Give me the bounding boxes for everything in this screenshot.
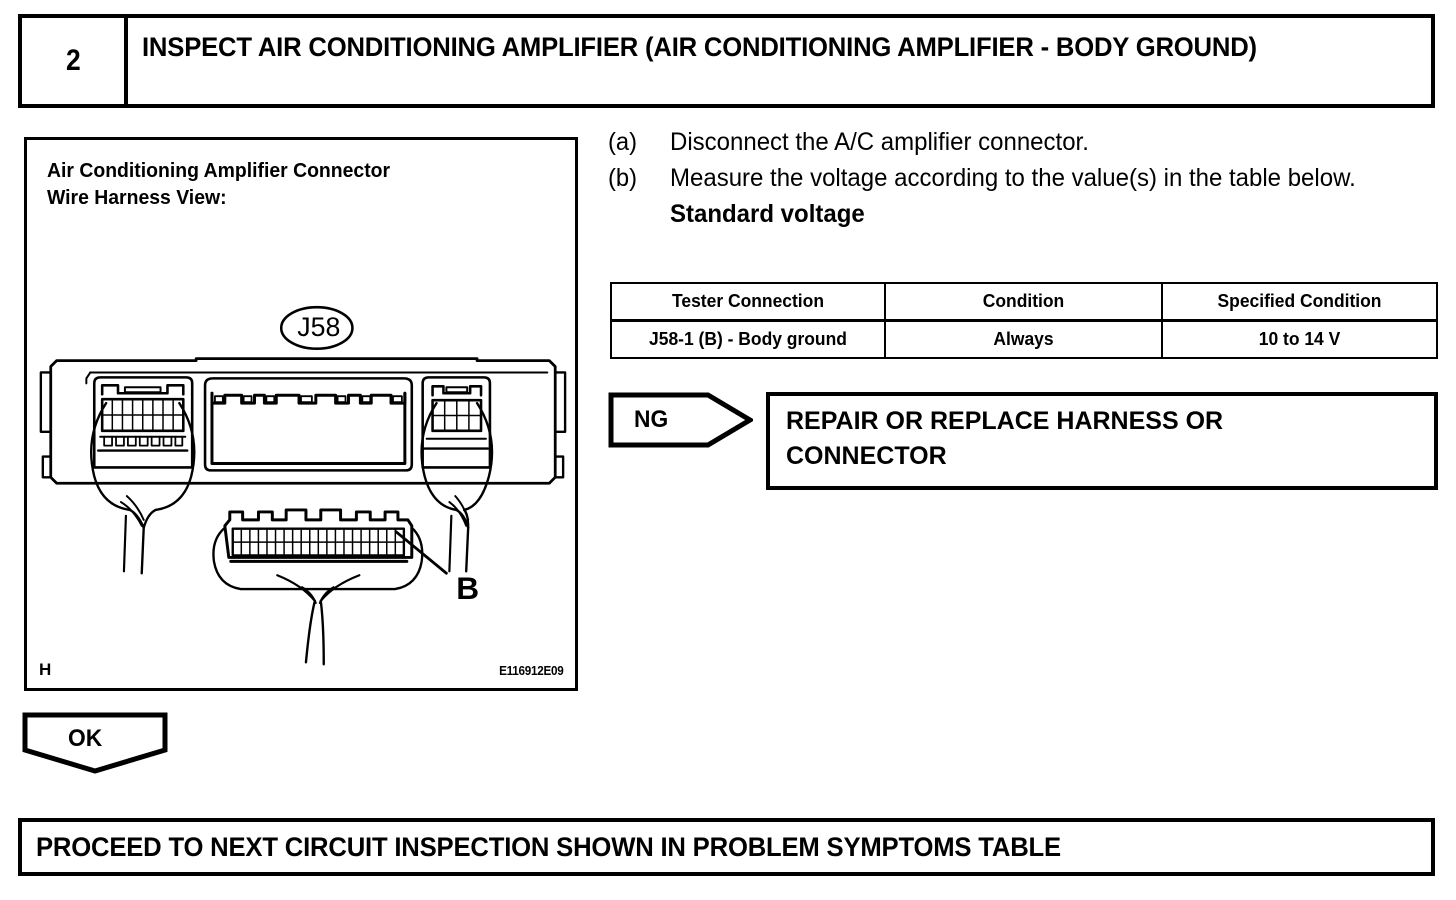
step-number-cell: 2	[22, 18, 128, 104]
step-header: 2 INSPECT AIR CONDITIONING AMPLIFIER (AI…	[18, 14, 1435, 108]
connector-id-text: J58	[297, 312, 340, 342]
table-cell-specified-condition: 10 to 14 V	[1166, 321, 1433, 359]
step-title-cell: INSPECT AIR CONDITIONING AMPLIFIER (AIR …	[128, 18, 1431, 104]
specification-table: Tester Connection Condition Specified Co…	[610, 282, 1438, 359]
terminal-callout-text: B	[456, 570, 479, 606]
ng-result-text: REPAIR OR REPLACE HARNESS OR CONNECTOR	[786, 407, 1223, 470]
step-title: INSPECT AIR CONDITIONING AMPLIFIER (AIR …	[142, 30, 1257, 65]
ng-branch: NG REPAIR OR REPLACE HARNESS OR CONNECTO…	[608, 392, 1438, 490]
instruction-list: (a) Disconnect the A/C amplifier connect…	[608, 124, 1438, 232]
connector-diagram: J58 B	[27, 140, 575, 688]
ok-label: OK	[68, 725, 102, 753]
table-header-specified-condition: Specified Condition	[1166, 283, 1433, 321]
instruction-text-a: Disconnect the A/C amplifier connector.	[670, 124, 1407, 160]
ng-arrow-shape	[608, 392, 753, 448]
table-header-condition: Condition	[889, 283, 1158, 321]
instruction-marker-b: (b)	[608, 160, 667, 196]
table-row: J58-1 (B) - Body ground Always 10 to 14 …	[611, 321, 1437, 359]
footer-text: PROCEED TO NEXT CIRCUIT INSPECTION SHOWN…	[36, 832, 1061, 863]
instruction-item-a: (a) Disconnect the A/C amplifier connect…	[608, 124, 1438, 160]
instruction-marker-a: (a)	[608, 124, 667, 160]
step-number: 2	[66, 46, 81, 76]
table-cell-tester-connection: J58-1 (B) - Body ground	[615, 321, 881, 359]
ng-label: NG	[634, 406, 668, 434]
instruction-text-b: Measure the voltage according to the val…	[670, 160, 1407, 196]
table-cell-condition: Always	[889, 321, 1158, 359]
illustration-corner-marker: H	[39, 660, 51, 680]
ok-branch: OK	[22, 712, 168, 774]
table-header-row: Tester Connection Condition Specified Co…	[611, 283, 1437, 321]
table-header-tester-connection: Tester Connection	[615, 283, 881, 321]
illustration-figure-code: E116912E09	[499, 663, 563, 678]
footer-box: PROCEED TO NEXT CIRCUIT INSPECTION SHOWN…	[18, 818, 1435, 876]
illustration-panel: Air Conditioning Amplifier Connector Wir…	[24, 137, 578, 691]
ng-result-box: REPAIR OR REPLACE HARNESS OR CONNECTOR	[766, 392, 1438, 490]
standard-voltage-heading: Standard voltage	[670, 196, 1407, 232]
instruction-item-b: (b) Measure the voltage according to the…	[608, 160, 1438, 196]
